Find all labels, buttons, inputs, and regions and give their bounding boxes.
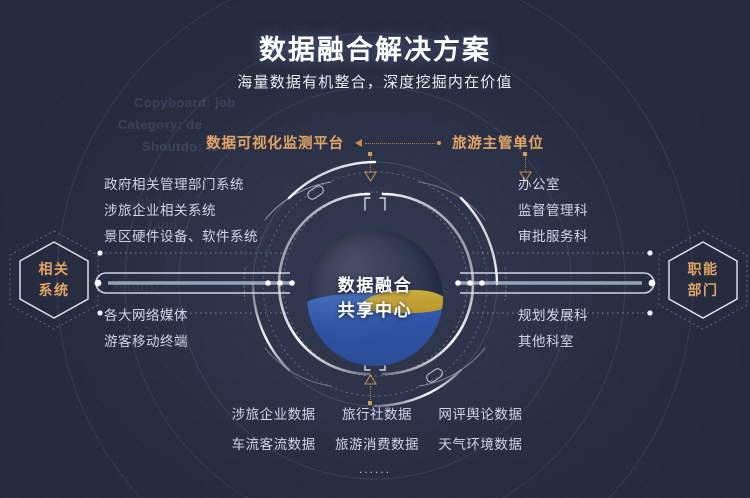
- list-item: 监督管理科: [518, 198, 588, 224]
- list-item: 车流客流数据: [222, 432, 325, 458]
- list-item: 游客移动终端: [104, 329, 188, 355]
- dashed-arrow-left-icon: [355, 137, 441, 149]
- bottom-ellipsis: ......: [0, 462, 750, 476]
- center-sphere-label: 数据融合 共享中心: [307, 230, 443, 366]
- left-top-system-list: 政府相关管理部门系统 涉旅企业相关系统 景区硬件设备、软件系统: [104, 172, 258, 250]
- hex-left-line-2: 系统: [39, 280, 70, 301]
- list-item: 旅游消费数据: [325, 432, 428, 458]
- list-item: 涉旅企业数据: [222, 402, 325, 428]
- top-label-row: 数据可视化监测平台 旅游主管单位: [0, 132, 750, 153]
- bottom-data-source-grid: 涉旅企业数据 旅行社数据 网评舆论数据 车流客流数据 旅游消费数据 天气环境数据: [222, 402, 532, 458]
- right-bottom-department-list: 规划发展科 其他科室: [518, 303, 588, 355]
- list-item: 天气环境数据: [429, 432, 532, 458]
- infographic-canvas: Copyboard: job Category: de Shoutdo: W w…: [0, 0, 750, 498]
- list-item: 其他科室: [518, 329, 588, 355]
- hex-right-line-2: 部门: [688, 280, 719, 301]
- list-item: 景区硬件设备、软件系统: [104, 224, 258, 250]
- page-subtitle: 海量数据有机整合，深度挖掘内在价值: [0, 71, 750, 92]
- list-item: 各大网络媒体: [104, 303, 188, 329]
- page-title: 数据融合解决方案: [0, 28, 750, 67]
- label-visualization-platform: 数据可视化监测平台: [206, 132, 344, 153]
- hexagon-related-systems[interactable]: 相关 系统: [6, 228, 102, 332]
- list-item: 政府相关管理部门系统: [104, 172, 258, 198]
- list-item: 规划发展科: [518, 303, 588, 329]
- list-item: 办公室: [518, 172, 588, 198]
- list-item: 审批服务科: [518, 224, 588, 250]
- list-item: 网评舆论数据: [429, 402, 532, 428]
- hex-left-line-1: 相关: [39, 259, 70, 280]
- center-line-2: 共享中心: [338, 298, 412, 323]
- list-item: 涉旅企业相关系统: [104, 198, 258, 224]
- hex-right-line-1: 职能: [688, 259, 719, 280]
- watermark-line: Copyboard: job: [134, 92, 358, 114]
- center-line-1: 数据融合: [338, 273, 412, 298]
- right-top-department-list: 办公室 监督管理科 审批服务科: [518, 172, 588, 250]
- left-bottom-system-list: 各大网络媒体 游客移动终端: [104, 303, 188, 355]
- label-tourism-authority: 旅游主管单位: [452, 132, 544, 153]
- hexagon-functional-departments[interactable]: 职能 部门: [655, 228, 750, 332]
- list-item: 旅行社数据: [325, 402, 428, 428]
